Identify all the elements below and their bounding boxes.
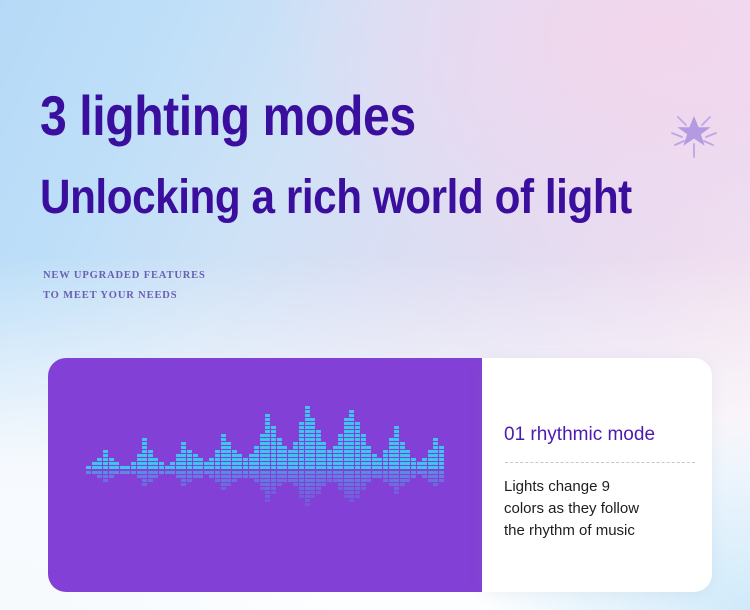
equalizer-column <box>327 358 332 592</box>
equalizer-block-reflection <box>372 471 377 474</box>
equalizer-block <box>237 466 242 469</box>
equalizer-block <box>372 466 377 469</box>
equalizer-block-reflection <box>249 471 254 474</box>
equalizer-block <box>333 454 338 457</box>
equalizer-block-reflection <box>288 475 293 478</box>
equalizer-block <box>299 450 304 453</box>
equalizer-block <box>394 446 399 449</box>
equalizer-block-reflection <box>271 475 276 478</box>
equalizer-block <box>372 462 377 465</box>
equalizer-column <box>383 358 388 592</box>
equalizer-block <box>299 446 304 449</box>
equalizer-block-reflection <box>417 471 422 474</box>
equalizer-block-reflection <box>361 487 366 490</box>
equalizer-block <box>428 466 433 469</box>
equalizer-block-reflection <box>366 479 371 482</box>
equalizer-block-reflection <box>137 475 142 478</box>
feature-card-text-panel: 01 rhythmic mode Lights change 9 colors … <box>482 358 712 592</box>
equalizer-block-reflection <box>344 483 349 486</box>
equalizer-block <box>316 462 321 465</box>
equalizer-block <box>142 446 147 449</box>
headline-secondary: Unlocking a rich world of light <box>40 174 647 222</box>
equalizer-block <box>109 458 114 461</box>
equalizer-block <box>148 450 153 453</box>
equalizer-column <box>142 358 147 592</box>
equalizer-block-reflection <box>249 475 254 478</box>
equalizer-block <box>254 446 259 449</box>
equalizer-block <box>310 422 315 425</box>
equalizer-block <box>316 434 321 437</box>
equalizer-block <box>114 466 119 469</box>
equalizer-block <box>433 446 438 449</box>
equalizer-block <box>366 450 371 453</box>
feature-card-description-line-3: the rhythm of music <box>504 520 699 542</box>
equalizer-block-reflection <box>103 471 108 474</box>
equalizer-block-reflection <box>349 491 354 494</box>
equalizer-block <box>310 442 315 445</box>
equalizer-block-reflection <box>344 487 349 490</box>
equalizer-block <box>282 466 287 469</box>
equalizer-block <box>389 438 394 441</box>
equalizer-block-reflection <box>338 483 343 486</box>
equalizer-block-reflection <box>265 475 270 478</box>
equalizer-block <box>198 458 203 461</box>
equalizer-block <box>209 458 214 461</box>
equalizer-block <box>221 446 226 449</box>
equalizer-block-reflection <box>355 475 360 478</box>
equalizer-block-reflection <box>282 475 287 478</box>
equalizer-block <box>333 450 338 453</box>
equalizer-block <box>394 434 399 437</box>
equalizer-block <box>249 466 254 469</box>
feature-card-description-line-2: colors as they follow <box>504 498 699 520</box>
equalizer-column <box>260 358 265 592</box>
equalizer-block <box>159 466 164 469</box>
equalizer-block <box>265 446 270 449</box>
equalizer-block-reflection <box>394 483 399 486</box>
equalizer-column <box>120 358 125 592</box>
equalizer-column <box>254 358 259 592</box>
caption-line-1: NEW UPGRADED FEATURES <box>43 266 206 286</box>
equalizer-block-reflection <box>310 487 315 490</box>
equalizer-block-reflection <box>305 475 310 478</box>
equalizer-block <box>327 462 332 465</box>
equalizer-block <box>125 466 130 469</box>
audio-equalizer-waveform <box>48 358 482 592</box>
equalizer-column <box>153 358 158 592</box>
equalizer-block-reflection <box>288 471 293 474</box>
equalizer-block <box>293 462 298 465</box>
equalizer-block-reflection <box>254 475 259 478</box>
equalizer-block <box>271 438 276 441</box>
equalizer-column <box>226 358 231 592</box>
equalizer-block <box>349 466 354 469</box>
equalizer-block-reflection <box>344 495 349 498</box>
equalizer-block-reflection <box>321 479 326 482</box>
equalizer-block-reflection <box>349 487 354 490</box>
equalizer-block <box>333 466 338 469</box>
equalizer-block <box>131 462 136 465</box>
equalizer-block <box>265 466 270 469</box>
equalizer-block-reflection <box>260 487 265 490</box>
equalizer-block-reflection <box>293 475 298 478</box>
equalizer-block-reflection <box>226 471 231 474</box>
equalizer-block <box>422 462 427 465</box>
equalizer-block <box>349 410 354 413</box>
equalizer-column <box>271 358 276 592</box>
equalizer-block <box>417 466 422 469</box>
equalizer-column <box>198 358 203 592</box>
equalizer-block <box>198 462 203 465</box>
equalizer-block <box>310 466 315 469</box>
equalizer-block <box>265 430 270 433</box>
equalizer-block <box>389 458 394 461</box>
equalizer-column <box>243 358 248 592</box>
equalizer-block <box>265 426 270 429</box>
equalizer-block <box>349 446 354 449</box>
equalizer-block <box>405 450 410 453</box>
equalizer-block <box>299 426 304 429</box>
equalizer-block <box>394 454 399 457</box>
equalizer-block <box>389 442 394 445</box>
equalizer-block <box>310 458 315 461</box>
equalizer-block <box>282 454 287 457</box>
equalizer-block <box>215 454 220 457</box>
equalizer-block <box>338 454 343 457</box>
equalizer-block <box>439 462 444 465</box>
equalizer-block <box>355 426 360 429</box>
equalizer-block <box>344 438 349 441</box>
equalizer-block <box>254 450 259 453</box>
equalizer-block-reflection <box>349 471 354 474</box>
equalizer-block <box>310 438 315 441</box>
equalizer-block <box>271 454 276 457</box>
equalizer-block <box>321 462 326 465</box>
equalizer-block <box>361 454 366 457</box>
equalizer-block <box>333 446 338 449</box>
equalizer-block <box>103 462 108 465</box>
equalizer-block <box>92 462 97 465</box>
equalizer-block <box>282 446 287 449</box>
equalizer-block <box>344 462 349 465</box>
equalizer-block-reflection <box>243 475 248 478</box>
equalizer-block-reflection <box>226 479 231 482</box>
equalizer-block-reflection <box>109 471 114 474</box>
equalizer-block-reflection <box>198 471 203 474</box>
equalizer-block <box>400 450 405 453</box>
equalizer-block <box>260 454 265 457</box>
equalizer-column <box>417 358 422 592</box>
equalizer-block-reflection <box>265 491 270 494</box>
equalizer-block-reflection <box>293 471 298 474</box>
equalizer-block <box>321 450 326 453</box>
equalizer-block-reflection <box>215 479 220 482</box>
equalizer-block <box>349 454 354 457</box>
equalizer-block-reflection <box>305 483 310 486</box>
equalizer-block <box>344 454 349 457</box>
equalizer-block-reflection <box>299 471 304 474</box>
equalizer-block <box>232 466 237 469</box>
equalizer-block <box>260 462 265 465</box>
equalizer-block <box>293 442 298 445</box>
equalizer-block-reflection <box>293 479 298 482</box>
equalizer-block <box>400 454 405 457</box>
equalizer-block <box>439 446 444 449</box>
equalizer-block <box>400 462 405 465</box>
equalizer-block <box>439 458 444 461</box>
equalizer-block <box>411 462 416 465</box>
equalizer-block <box>142 462 147 465</box>
equalizer-block <box>181 450 186 453</box>
equalizer-block <box>377 458 382 461</box>
equalizer-block-reflection <box>361 483 366 486</box>
equalizer-block <box>377 462 382 465</box>
equalizer-block-reflection <box>181 479 186 482</box>
equalizer-block <box>349 462 354 465</box>
equalizer-block-reflection <box>204 471 209 474</box>
equalizer-block <box>209 466 214 469</box>
equalizer-block <box>377 466 382 469</box>
equalizer-block <box>349 458 354 461</box>
equalizer-block-reflection <box>310 479 315 482</box>
equalizer-column <box>293 358 298 592</box>
equalizer-block <box>271 446 276 449</box>
equalizer-block <box>254 462 259 465</box>
equalizer-block-reflection <box>310 491 315 494</box>
equalizer-block <box>305 450 310 453</box>
equalizer-block <box>271 462 276 465</box>
equalizer-block <box>288 462 293 465</box>
equalizer-block-reflection <box>170 471 175 474</box>
equalizer-column <box>349 358 354 592</box>
equalizer-block <box>198 466 203 469</box>
equalizer-block <box>299 430 304 433</box>
equalizer-block <box>338 442 343 445</box>
equalizer-block <box>305 466 310 469</box>
equalizer-block-reflection <box>439 475 444 478</box>
equalizer-block-reflection <box>254 471 259 474</box>
equalizer-column <box>377 358 382 592</box>
equalizer-block <box>355 422 360 425</box>
equalizer-block <box>260 438 265 441</box>
equalizer-column <box>316 358 321 592</box>
equalizer-block <box>305 422 310 425</box>
equalizer-block <box>338 446 343 449</box>
equalizer-block-reflection <box>299 495 304 498</box>
equalizer-block-reflection <box>428 475 433 478</box>
equalizer-block <box>383 458 388 461</box>
equalizer-block-reflection <box>321 471 326 474</box>
equalizer-block-reflection <box>271 491 276 494</box>
equalizer-block-reflection <box>288 479 293 482</box>
equalizer-block-reflection <box>361 479 366 482</box>
equalizer-block-reflection <box>349 495 354 498</box>
equalizer-block <box>338 462 343 465</box>
equalizer-block <box>265 422 270 425</box>
equalizer-block <box>361 442 366 445</box>
equalizer-block <box>310 430 315 433</box>
equalizer-block-reflection <box>383 471 388 474</box>
equalizer-block <box>389 454 394 457</box>
equalizer-block-reflection <box>327 479 332 482</box>
equalizer-block <box>355 446 360 449</box>
equalizer-block <box>265 438 270 441</box>
equalizer-block <box>277 466 282 469</box>
equalizer-block-reflection <box>265 483 270 486</box>
equalizer-block <box>282 458 287 461</box>
equalizer-block <box>271 466 276 469</box>
equalizer-block <box>254 458 259 461</box>
equalizer-block <box>176 466 181 469</box>
equalizer-block <box>260 434 265 437</box>
equalizer-block <box>260 446 265 449</box>
equalizer-block-reflection <box>321 475 326 478</box>
equalizer-block <box>299 454 304 457</box>
equalizer-block-reflection <box>265 487 270 490</box>
equalizer-block <box>394 426 399 429</box>
equalizer-column <box>305 358 310 592</box>
equalizer-block-reflection <box>344 471 349 474</box>
equalizer-block <box>361 434 366 437</box>
equalizer-block <box>305 418 310 421</box>
sparkle-star-icon <box>663 100 725 162</box>
equalizer-block-reflection <box>389 475 394 478</box>
equalizer-block-reflection <box>299 487 304 490</box>
equalizer-block <box>271 442 276 445</box>
equalizer-block <box>299 434 304 437</box>
equalizer-block <box>215 462 220 465</box>
equalizer-block-reflection <box>271 483 276 486</box>
equalizer-block <box>181 466 186 469</box>
equalizer-block <box>176 458 181 461</box>
equalizer-block <box>400 458 405 461</box>
equalizer-block-reflection <box>277 479 282 482</box>
equalizer-block <box>383 450 388 453</box>
equalizer-block <box>265 450 270 453</box>
equalizer-column <box>249 358 254 592</box>
equalizer-block <box>327 466 332 469</box>
equalizer-block-reflection <box>305 487 310 490</box>
equalizer-block <box>310 434 315 437</box>
equalizer-column <box>148 358 153 592</box>
equalizer-block <box>305 438 310 441</box>
promo-banner: 3 lighting modes Unlocking a rich world … <box>0 0 750 610</box>
equalizer-block <box>142 450 147 453</box>
equalizer-block <box>265 418 270 421</box>
equalizer-block <box>265 442 270 445</box>
equalizer-block <box>316 446 321 449</box>
equalizer-block <box>321 454 326 457</box>
equalizer-block-reflection <box>221 479 226 482</box>
equalizer-block <box>305 434 310 437</box>
equalizer-block-reflection <box>265 495 270 498</box>
equalizer-block-reflection <box>355 491 360 494</box>
equalizer-block-reflection <box>310 483 315 486</box>
equalizer-block <box>142 466 147 469</box>
equalizer-block <box>344 446 349 449</box>
equalizer-column <box>389 358 394 592</box>
equalizer-block-reflection <box>97 475 102 478</box>
equalizer-block-reflection <box>299 491 304 494</box>
equalizer-block-reflection <box>366 471 371 474</box>
equalizer-block <box>305 462 310 465</box>
equalizer-block-reflection <box>349 499 354 502</box>
equalizer-block <box>349 434 354 437</box>
equalizer-block-reflection <box>237 471 242 474</box>
equalizer-block-reflection <box>338 487 343 490</box>
equalizer-block-reflection <box>181 483 186 486</box>
equalizer-block <box>428 454 433 457</box>
equalizer-column <box>282 358 287 592</box>
equalizer-block <box>366 458 371 461</box>
equalizer-block-reflection <box>355 483 360 486</box>
equalizer-block <box>433 466 438 469</box>
equalizer-block-reflection <box>148 479 153 482</box>
equalizer-block <box>321 446 326 449</box>
equalizer-block-reflection <box>366 475 371 478</box>
equalizer-block <box>271 430 276 433</box>
feature-card-divider <box>505 462 695 463</box>
equalizer-block <box>299 438 304 441</box>
equalizer-block-reflection <box>428 471 433 474</box>
equalizer-block <box>333 458 338 461</box>
equalizer-block <box>265 462 270 465</box>
equalizer-block-reflection <box>137 471 142 474</box>
equalizer-block-reflection <box>215 475 220 478</box>
equalizer-block-reflection <box>260 479 265 482</box>
equalizer-block-reflection <box>355 487 360 490</box>
equalizer-block <box>277 450 282 453</box>
equalizer-block <box>187 462 192 465</box>
equalizer-block <box>389 446 394 449</box>
equalizer-block <box>226 442 231 445</box>
equalizer-block-reflection <box>193 475 198 478</box>
equalizer-block-reflection <box>305 471 310 474</box>
equalizer-block <box>293 454 298 457</box>
equalizer-block <box>394 430 399 433</box>
equalizer-block-reflection <box>310 475 315 478</box>
caption-line-2: TO MEET YOUR NEEDS <box>43 286 206 306</box>
equalizer-block-reflection <box>383 479 388 482</box>
equalizer-block <box>148 462 153 465</box>
equalizer-block-reflection <box>338 479 343 482</box>
equalizer-column <box>372 358 377 592</box>
equalizer-block-reflection <box>165 471 170 474</box>
equalizer-block-reflection <box>316 491 321 494</box>
equalizer-block-reflection <box>333 479 338 482</box>
equalizer-block <box>249 462 254 465</box>
equalizer-block <box>187 466 192 469</box>
equalizer-block <box>299 422 304 425</box>
equalizer-block <box>271 426 276 429</box>
equalizer-block <box>383 454 388 457</box>
equalizer-block <box>305 430 310 433</box>
equalizer-block <box>209 462 214 465</box>
equalizer-block <box>355 450 360 453</box>
equalizer-block <box>355 458 360 461</box>
equalizer-block <box>422 458 427 461</box>
equalizer-block <box>433 462 438 465</box>
equalizer-block <box>389 450 394 453</box>
equalizer-block <box>277 462 282 465</box>
equalizer-block-reflection <box>361 475 366 478</box>
equalizer-block <box>305 414 310 417</box>
equalizer-block <box>109 462 114 465</box>
equalizer-block-reflection <box>176 475 181 478</box>
equalizer-block <box>226 450 231 453</box>
equalizer-block <box>305 458 310 461</box>
equalizer-block-reflection <box>394 487 399 490</box>
